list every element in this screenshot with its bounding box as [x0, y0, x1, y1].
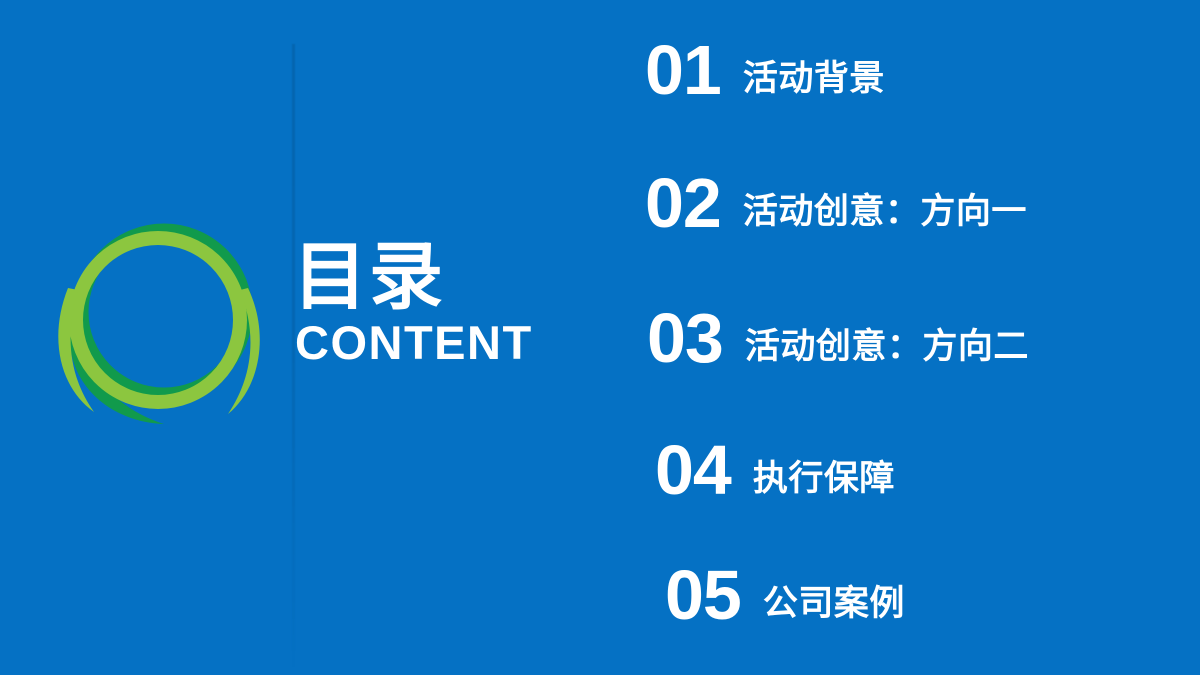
page-title: 目录 [293, 242, 583, 313]
toc-number: 03 [647, 303, 723, 373]
toc-label: 公司案例 [763, 587, 905, 622]
logo-light-ring [76, 238, 240, 402]
toc-entry-01[interactable]: 01 活动背景 [645, 35, 885, 105]
brand-text-block: 目录 CONTENT [293, 242, 583, 366]
toc-entry-03[interactable]: 03 活动创意：方向二 [647, 303, 1029, 373]
toc-number: 05 [665, 560, 741, 630]
toc-number: 01 [645, 35, 721, 105]
toc-label: 活动背景 [743, 62, 885, 97]
toc-label: 活动创意：方向一 [743, 195, 1027, 230]
page-subtitle: CONTENT [295, 319, 583, 366]
toc-label: 执行保障 [753, 462, 895, 497]
table-of-contents: 01 活动背景 02 活动创意：方向一 03 活动创意：方向二 04 执行保障 … [600, 0, 1200, 675]
toc-entry-02[interactable]: 02 活动创意：方向一 [645, 168, 1027, 238]
toc-label: 活动创意：方向二 [745, 330, 1029, 365]
toc-entry-05[interactable]: 05 公司案例 [665, 560, 905, 630]
toc-entry-04[interactable]: 04 执行保障 [655, 435, 895, 505]
toc-number: 02 [645, 168, 721, 238]
green-circle-swoosh-logo-icon [40, 198, 280, 438]
toc-number: 04 [655, 435, 731, 505]
slide-canvas: 目录 CONTENT 01 活动背景 02 活动创意：方向一 03 活动创意：方… [0, 0, 1200, 675]
brand-block: 目录 CONTENT [0, 0, 600, 675]
